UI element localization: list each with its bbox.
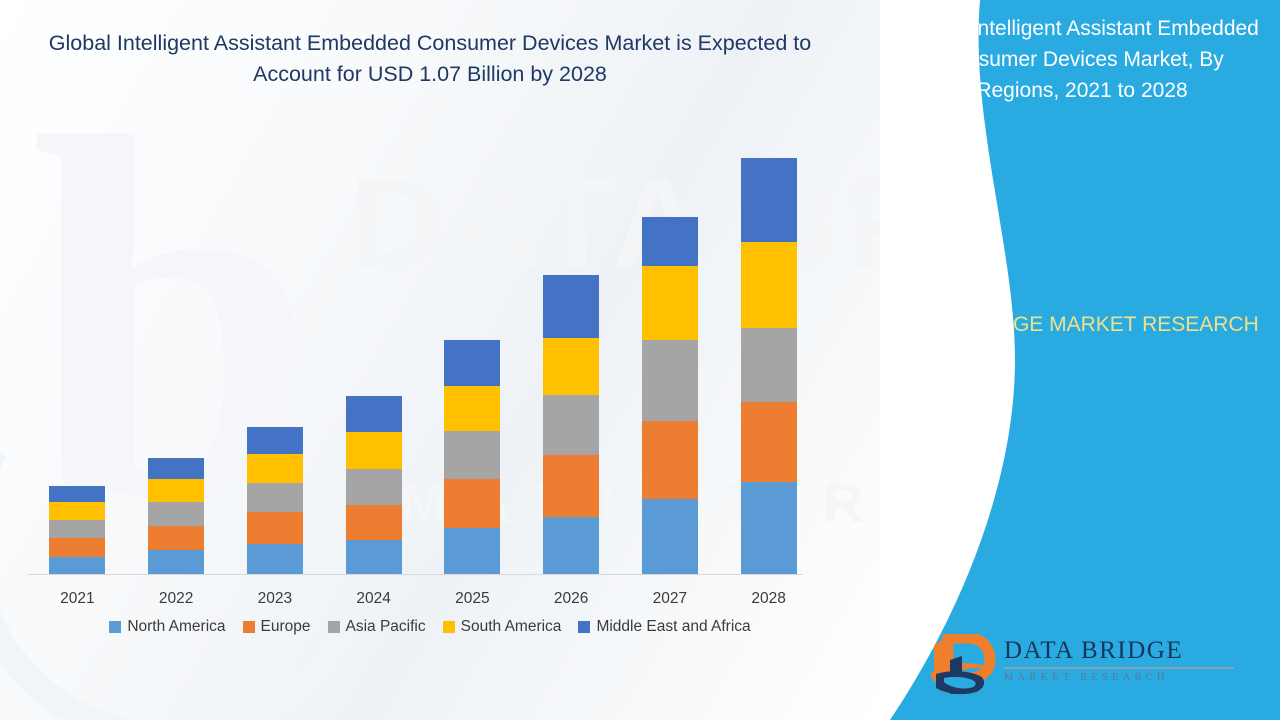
bar-segment[interactable] — [148, 526, 204, 551]
brand-logo: DATA BRIDGE MARKET RESEARCH — [928, 632, 1268, 702]
brand-subtitle: DATA BRIDGE MARKET RESEARCH — [820, 310, 1280, 340]
legend-item[interactable]: North America — [109, 618, 225, 636]
bar-segment[interactable] — [543, 338, 599, 395]
brand-title: Global Intelligent Assistant Embedded Co… — [820, 14, 1280, 107]
logo-name: DATA BRIDGE — [1004, 638, 1234, 663]
chart-legend: North AmericaEuropeAsia PacificSouth Ame… — [0, 618, 860, 636]
bar-segment[interactable] — [543, 395, 599, 455]
bar-segment[interactable] — [49, 502, 105, 520]
bar-segment[interactable] — [247, 483, 303, 512]
legend-item[interactable]: Middle East and Africa — [578, 618, 750, 636]
bar-segment[interactable] — [543, 517, 599, 575]
bar-segment[interactable] — [49, 538, 105, 557]
bar-segment[interactable] — [741, 402, 797, 483]
bar-segment[interactable] — [247, 512, 303, 543]
legend-item[interactable]: South America — [443, 618, 562, 636]
x-axis-tick-label: 2025 — [432, 590, 512, 608]
bar-segment[interactable] — [741, 158, 797, 242]
legend-swatch — [443, 621, 455, 633]
bar-group[interactable] — [49, 486, 105, 575]
bar-group[interactable] — [543, 275, 599, 575]
x-axis-tick-label: 2023 — [235, 590, 315, 608]
bar-segment[interactable] — [247, 544, 303, 575]
bar-segment[interactable] — [741, 482, 797, 575]
bar-group[interactable] — [346, 396, 402, 575]
bar-segment[interactable] — [247, 454, 303, 483]
legend-label: South America — [461, 618, 562, 636]
chart-panel: b DATA BRIDGE MARKET RESEARCH Global Int… — [0, 0, 880, 720]
bar-segment[interactable] — [49, 520, 105, 538]
bar-segment[interactable] — [346, 469, 402, 505]
bar-segment[interactable] — [148, 550, 204, 575]
bar-segment[interactable] — [642, 266, 698, 340]
legend-label: Middle East and Africa — [596, 618, 750, 636]
legend-label: North America — [127, 618, 225, 636]
data-bridge-logo-icon — [928, 634, 996, 696]
bar-group[interactable] — [247, 427, 303, 575]
legend-swatch — [328, 621, 340, 633]
bar-segment[interactable] — [346, 540, 402, 575]
x-axis-tick-label: 2028 — [729, 590, 809, 608]
bar-segment[interactable] — [346, 432, 402, 469]
bar-segment[interactable] — [49, 486, 105, 503]
bar-segment[interactable] — [642, 340, 698, 421]
bar-segment[interactable] — [148, 458, 204, 479]
bar-group[interactable] — [741, 158, 797, 575]
legend-item[interactable]: Europe — [243, 618, 311, 636]
bar-segment[interactable] — [444, 479, 500, 528]
bar-segment[interactable] — [543, 455, 599, 517]
bar-segment[interactable] — [148, 479, 204, 502]
bar-segment[interactable] — [642, 217, 698, 266]
bar-segment[interactable] — [642, 499, 698, 575]
bar-segment[interactable] — [247, 427, 303, 454]
x-axis-line — [28, 574, 803, 575]
bar-segment[interactable] — [346, 396, 402, 432]
x-axis-tick-label: 2022 — [136, 590, 216, 608]
page-title: Global Intelligent Assistant Embedded Co… — [0, 28, 860, 90]
x-axis-tick-label: 2026 — [531, 590, 611, 608]
bar-segment[interactable] — [444, 386, 500, 431]
legend-swatch — [109, 621, 121, 633]
logo-tagline: MARKET RESEARCH — [1004, 672, 1234, 683]
x-axis-tick-label: 2024 — [334, 590, 414, 608]
bar-chart-plot-area — [28, 150, 818, 575]
legend-swatch — [578, 621, 590, 633]
logo-divider — [1004, 667, 1234, 669]
x-axis-tick-label: 2027 — [630, 590, 710, 608]
bar-group[interactable] — [642, 217, 698, 575]
legend-swatch — [243, 621, 255, 633]
logo-wordmark: DATA BRIDGE MARKET RESEARCH — [1004, 638, 1234, 683]
bar-segment[interactable] — [444, 340, 500, 386]
x-axis-tick-label: 2021 — [37, 590, 117, 608]
legend-item[interactable]: Asia Pacific — [328, 618, 426, 636]
bar-group[interactable] — [148, 458, 204, 575]
bar-segment[interactable] — [444, 528, 500, 575]
bar-segment[interactable] — [49, 557, 105, 575]
legend-label: Europe — [261, 618, 311, 636]
legend-label: Asia Pacific — [346, 618, 426, 636]
bar-segment[interactable] — [642, 421, 698, 499]
x-axis-labels: 20212022202320242025202620272028 — [28, 590, 818, 614]
bar-segment[interactable] — [444, 431, 500, 479]
bar-group[interactable] — [444, 340, 500, 575]
bar-segment[interactable] — [543, 275, 599, 338]
brand-panel: Global Intelligent Assistant Embedded Co… — [820, 0, 1280, 720]
bar-segment[interactable] — [346, 505, 402, 541]
bar-segment[interactable] — [741, 242, 797, 328]
bar-segment[interactable] — [741, 328, 797, 402]
bar-segment[interactable] — [148, 502, 204, 525]
